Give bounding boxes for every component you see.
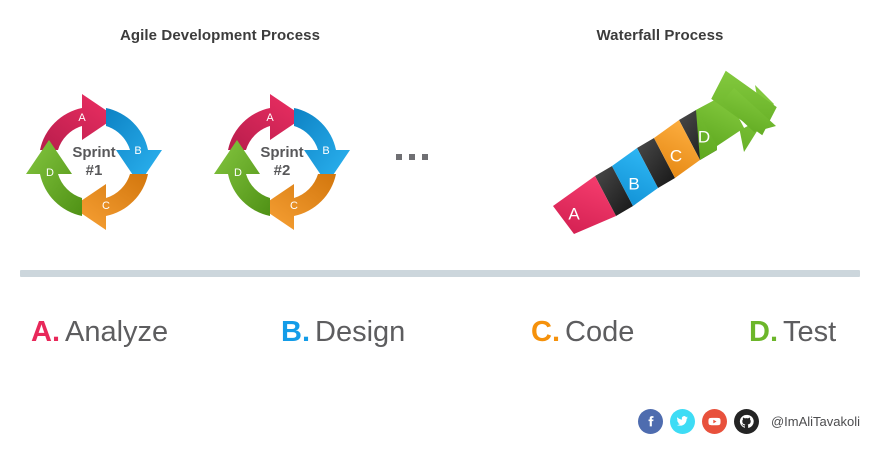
agile-section-title: Agile Development Process	[0, 27, 440, 44]
legend-key-d: D.	[749, 316, 778, 348]
svg-text:D: D	[46, 167, 54, 179]
svg-text:A: A	[568, 204, 580, 223]
svg-text:C: C	[102, 200, 110, 212]
svg-text:D: D	[698, 127, 710, 146]
ellipsis-dot	[396, 154, 402, 160]
legend-word-test: Test	[778, 316, 836, 348]
ellipsis-dot	[422, 154, 428, 160]
svg-text:A: A	[78, 112, 86, 124]
svg-text:C: C	[290, 200, 298, 212]
legend-word-code: Code	[560, 316, 634, 348]
svg-text:A: A	[266, 112, 274, 124]
legend-key-a: A.	[31, 316, 60, 348]
waterfall-step-d-arrow: D	[696, 58, 785, 160]
legend-item-design: B.Design	[281, 305, 405, 359]
github-icon[interactable]	[734, 409, 759, 434]
svg-text:D: D	[234, 167, 242, 179]
twitter-icon[interactable]	[670, 409, 695, 434]
youtube-icon[interactable]	[702, 409, 727, 434]
agile-cycle-sprint-2: A B C D Sprint #2	[208, 88, 356, 236]
slide-canvas: Agile Development Process Waterfall Proc…	[0, 0, 880, 462]
legend-word-design: Design	[310, 316, 405, 348]
cycle-step-c: C	[72, 174, 148, 230]
social-handle: @ImAliTavakoli	[771, 414, 860, 429]
cycle-step-d: D	[214, 140, 270, 216]
svg-text:B: B	[322, 145, 329, 157]
svg-text:C: C	[670, 146, 682, 165]
ellipsis-dot	[409, 154, 415, 160]
legend-key-b: B.	[281, 316, 310, 348]
cycle-step-c: C	[260, 174, 336, 230]
section-divider	[20, 270, 860, 277]
cycle-step-a: A	[40, 94, 116, 150]
footer: @ImAliTavakoli	[0, 404, 880, 438]
legend-item-test: D.Test	[749, 305, 836, 359]
cycle-step-d: D	[26, 140, 82, 216]
legend-word-analyze: Analyze	[60, 316, 168, 348]
cycle-step-b: B	[106, 108, 162, 184]
svg-text:B: B	[628, 174, 639, 193]
facebook-icon[interactable]	[638, 409, 663, 434]
agile-cycle-sprint-1: A B C D Sprint #1	[20, 88, 168, 236]
svg-text:B: B	[134, 145, 141, 157]
continuation-ellipsis	[396, 154, 428, 160]
legend-key-c: C.	[531, 316, 560, 348]
waterfall-diagram: A B C D	[548, 82, 778, 242]
legend-item-code: C.Code	[531, 305, 634, 359]
cycle-step-b: B	[294, 108, 350, 184]
cycle-step-a: A	[228, 94, 304, 150]
waterfall-section-title: Waterfall Process	[440, 27, 880, 44]
legend: A.Analyze B.Design C.Code D.Test	[0, 305, 880, 365]
legend-item-analyze: A.Analyze	[31, 305, 168, 359]
